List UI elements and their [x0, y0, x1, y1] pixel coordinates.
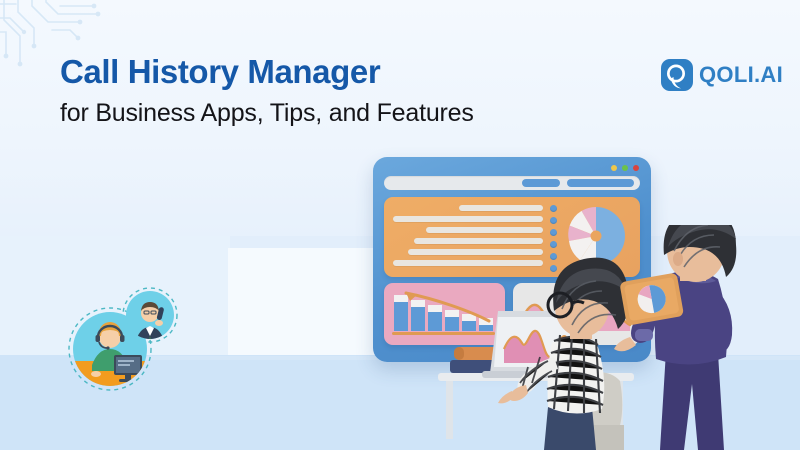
maximize-dot[interactable] [622, 165, 628, 171]
brand-name: QOLI.AI [699, 62, 783, 88]
minimize-dot[interactable] [611, 165, 617, 171]
row-marker-dot [550, 217, 557, 224]
address-bar-pill-1 [522, 179, 560, 187]
row-marker-dot [550, 205, 557, 212]
page-subtitle: for Business Apps, Tips, and Features [60, 99, 580, 128]
list-row-bar [459, 205, 543, 211]
list-row-bar [393, 216, 543, 222]
qoli-q-icon [660, 58, 694, 92]
headline-block: Call History Manager for Business Apps, … [60, 54, 580, 128]
page-title: Call History Manager [60, 54, 580, 91]
traffic-lights [611, 165, 639, 171]
call-center-badge [66, 285, 178, 395]
banner-root: Call History Manager for Business Apps, … [0, 0, 800, 450]
address-bar[interactable] [384, 176, 640, 190]
brand-logo[interactable]: QOLI.AI [660, 58, 783, 92]
close-dot[interactable] [633, 165, 639, 171]
illustration-scene [430, 225, 800, 450]
address-bar-pill-2 [567, 179, 634, 187]
standing-manager [614, 225, 736, 450]
